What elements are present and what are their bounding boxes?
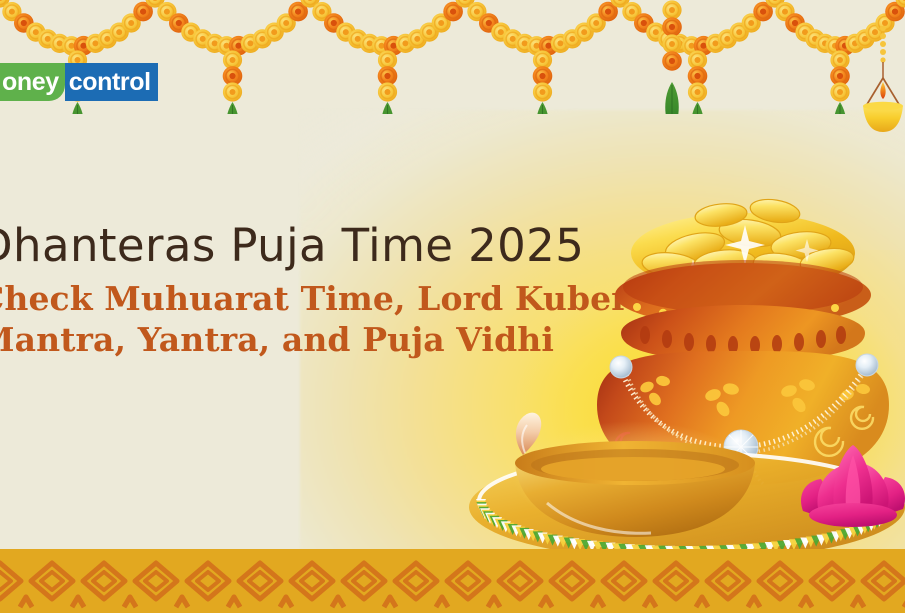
logo-green-part: oney bbox=[0, 63, 65, 101]
lotus-petals bbox=[801, 445, 905, 527]
logo-blue-part: control bbox=[65, 63, 158, 101]
moneycontrol-logo[interactable]: oney control bbox=[0, 63, 158, 101]
gem-left bbox=[610, 356, 632, 378]
gem-right bbox=[856, 354, 878, 376]
subtitle-line-1: Check Muhuarat Time, Lord Kubera bbox=[0, 279, 650, 318]
dhanteras-banner: oney control Dhanteras Puja Time 2025Che… bbox=[0, 0, 905, 613]
pink-lotus-icon bbox=[795, 415, 905, 535]
diamond-chevron-pattern bbox=[0, 549, 905, 613]
hanging-diya-icon bbox=[858, 26, 905, 136]
bottom-decorative-border bbox=[0, 549, 905, 613]
